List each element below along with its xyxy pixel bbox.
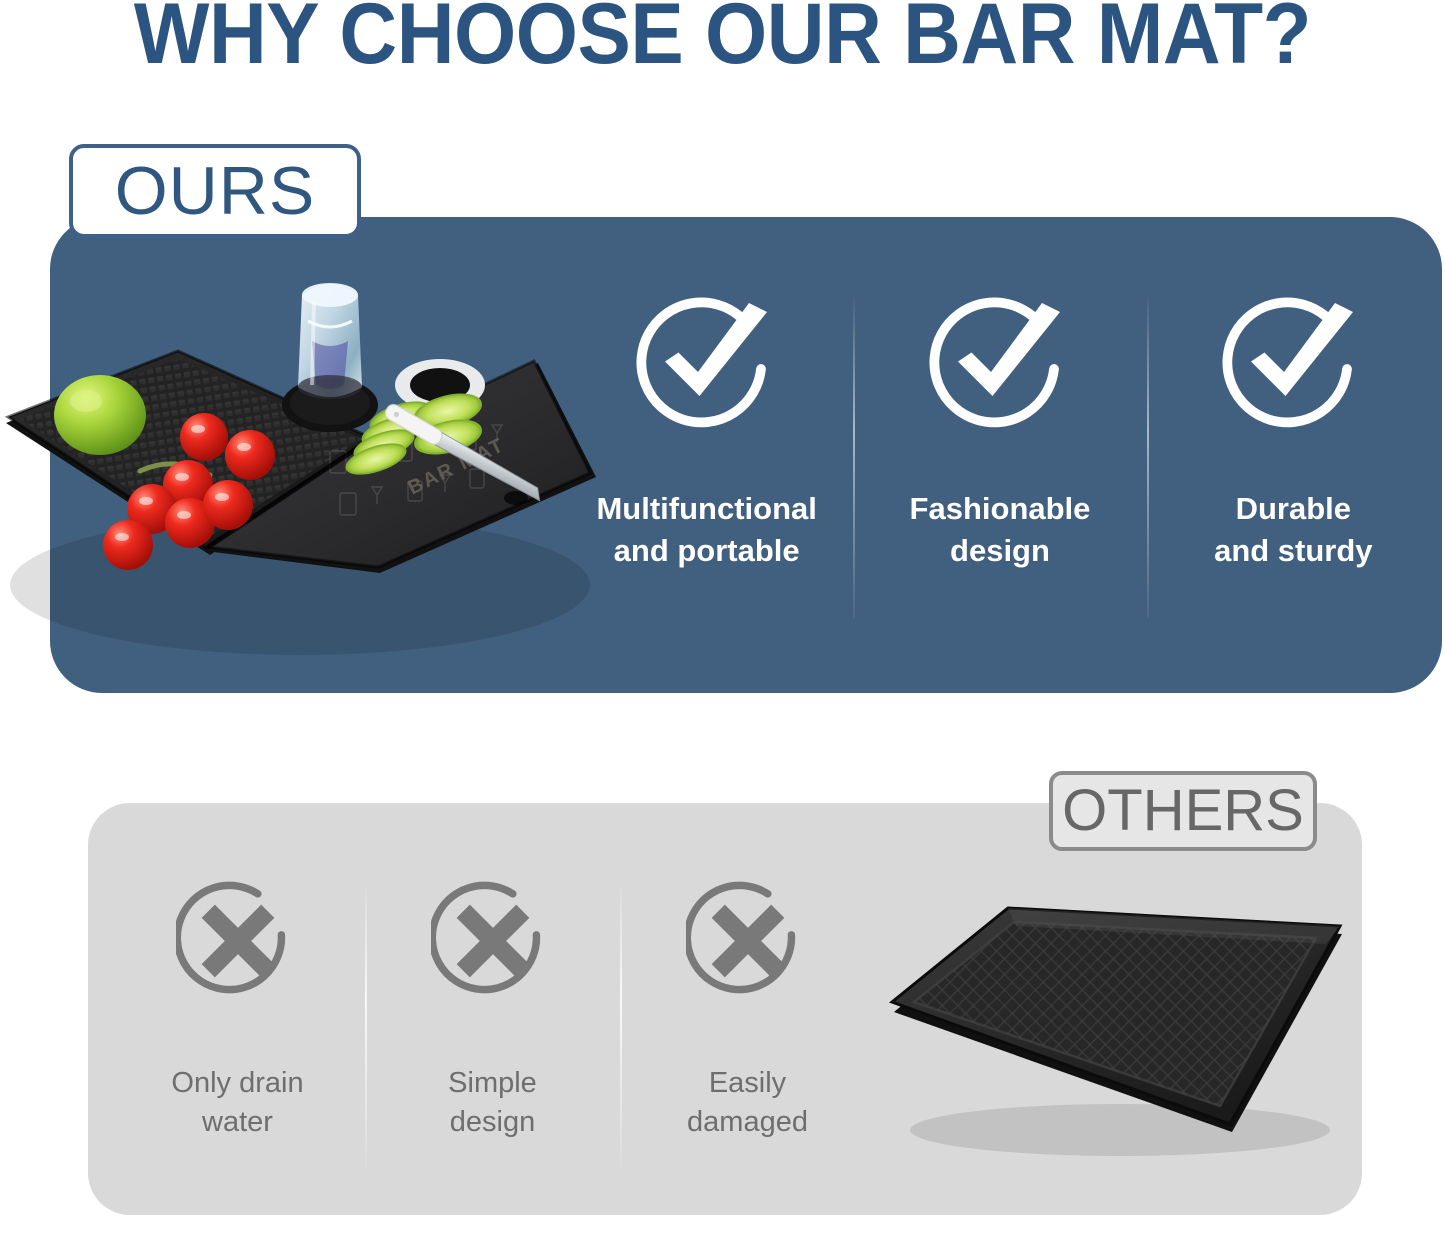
x-circle-icon — [176, 878, 300, 1004]
x-circle-icon — [686, 878, 810, 1004]
others-feature-label: Only drain water — [171, 1064, 303, 1142]
ours-badge-label: OURS — [115, 157, 315, 225]
ours-feature-item-durable: Durable and sturdy — [1147, 290, 1440, 630]
others-product-photo — [880, 880, 1350, 1180]
ours-feature-label: Fashionable design — [910, 488, 1091, 572]
ours-badge: OURS — [69, 144, 361, 238]
ours-feature-label: Durable and sturdy — [1214, 488, 1372, 572]
check-circle-icon — [925, 290, 1075, 442]
page-title: WHY CHOOSE OUR BAR MAT? — [51, 0, 1395, 82]
ours-product-photo: BAR MAT — [0, 255, 640, 675]
check-circle-icon — [1218, 290, 1368, 442]
others-feature-item-only-drain-water: Only drain water — [110, 878, 365, 1178]
others-feature-list: Only drain water Simple design Easily da… — [110, 878, 875, 1178]
others-feature-item-simple-design: Simple design — [365, 878, 620, 1178]
others-badge-label: OTHERS — [1062, 782, 1304, 840]
ours-feature-list: Multifunctional and portable Fashionable… — [560, 290, 1440, 630]
x-circle-icon — [431, 878, 555, 1004]
ours-feature-item-fashionable: Fashionable design — [853, 290, 1146, 630]
others-feature-item-easily-damaged: Easily damaged — [620, 878, 875, 1178]
others-badge: OTHERS — [1049, 771, 1317, 851]
check-circle-icon — [632, 290, 782, 442]
others-feature-label: Easily damaged — [687, 1064, 808, 1142]
others-feature-label: Simple design — [448, 1064, 537, 1142]
